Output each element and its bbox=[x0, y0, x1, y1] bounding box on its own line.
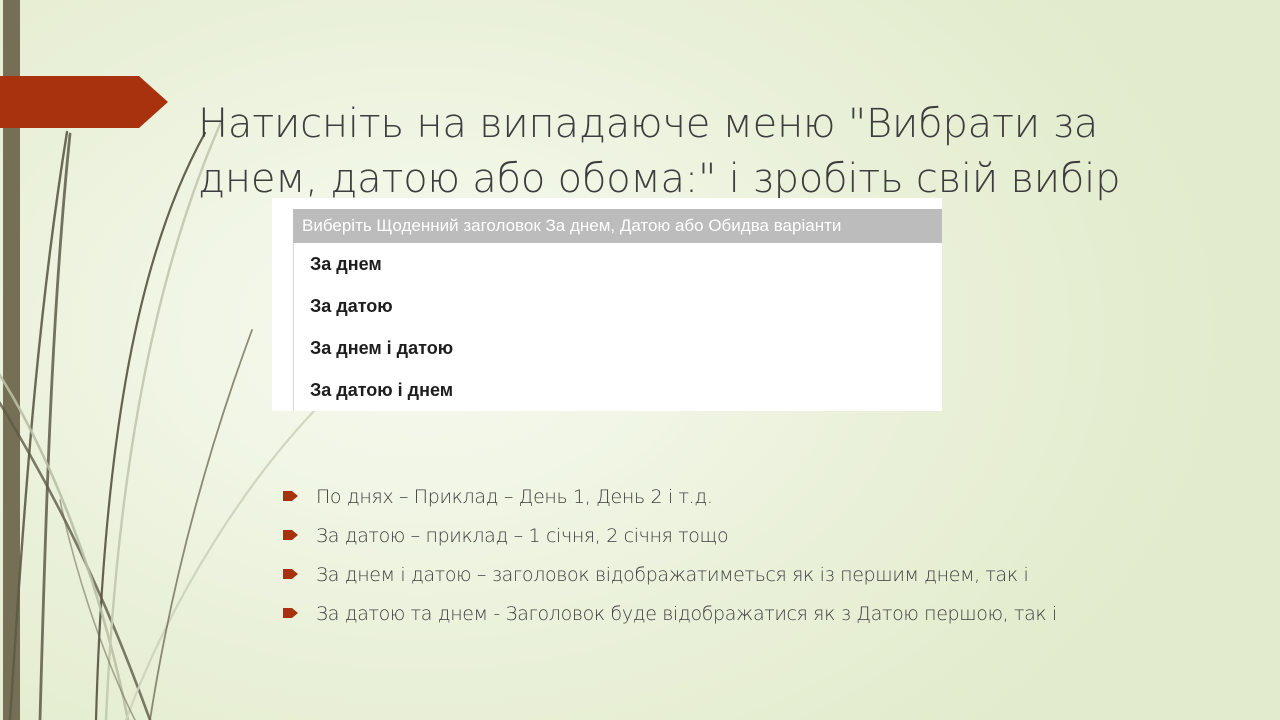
page-title: Натисніть на випадаюче меню "Вибрати за … bbox=[198, 97, 1208, 207]
title-accent-arrow-icon bbox=[0, 76, 170, 128]
list-item: За датою та днем - Заголовок буде відобр… bbox=[283, 595, 1243, 634]
pennant-bullet-icon bbox=[283, 491, 298, 501]
dropdown-option-by-date-and-day[interactable]: За датою і днем bbox=[294, 369, 942, 411]
pennant-bullet-icon bbox=[283, 530, 298, 540]
dropdown-option-by-day-and-date[interactable]: За днем і датою bbox=[294, 327, 942, 369]
slide-canvas: Натисніть на випадаюче меню "Вибрати за … bbox=[0, 0, 1280, 720]
bullet-text: За датою – приклад – 1 січня, 2 січня то… bbox=[316, 517, 1243, 556]
list-item: За днем і датою – заголовок відображатим… bbox=[283, 556, 1243, 595]
embedded-screenshot: Виберіть Щоденний заголовок За днем, Дат… bbox=[272, 198, 942, 411]
list-item: По днях – Приклад – День 1, День 2 і т.д… bbox=[283, 478, 1243, 517]
dropdown-option-by-day[interactable]: За днем bbox=[294, 243, 942, 285]
bullet-list: По днях – Приклад – День 1, День 2 і т.д… bbox=[283, 478, 1243, 634]
pennant-bullet-icon bbox=[283, 608, 298, 618]
dropdown-widget: Виберіть Щоденний заголовок За днем, Дат… bbox=[293, 209, 942, 411]
dropdown-option-list[interactable]: За днем За датою За днем і датою За дато… bbox=[293, 243, 942, 411]
dropdown-option-by-date[interactable]: За датою bbox=[294, 285, 942, 327]
list-item: За датою – приклад – 1 січня, 2 січня то… bbox=[283, 517, 1243, 556]
dropdown-header-label: Виберіть Щоденний заголовок За днем, Дат… bbox=[293, 209, 942, 243]
bullet-text: По днях – Приклад – День 1, День 2 і т.д… bbox=[316, 478, 1243, 517]
pennant-bullet-icon bbox=[283, 569, 298, 579]
bullet-text: За днем і датою – заголовок відображатим… bbox=[316, 556, 1243, 595]
bullet-text: За датою та днем - Заголовок буде відобр… bbox=[316, 595, 1243, 634]
